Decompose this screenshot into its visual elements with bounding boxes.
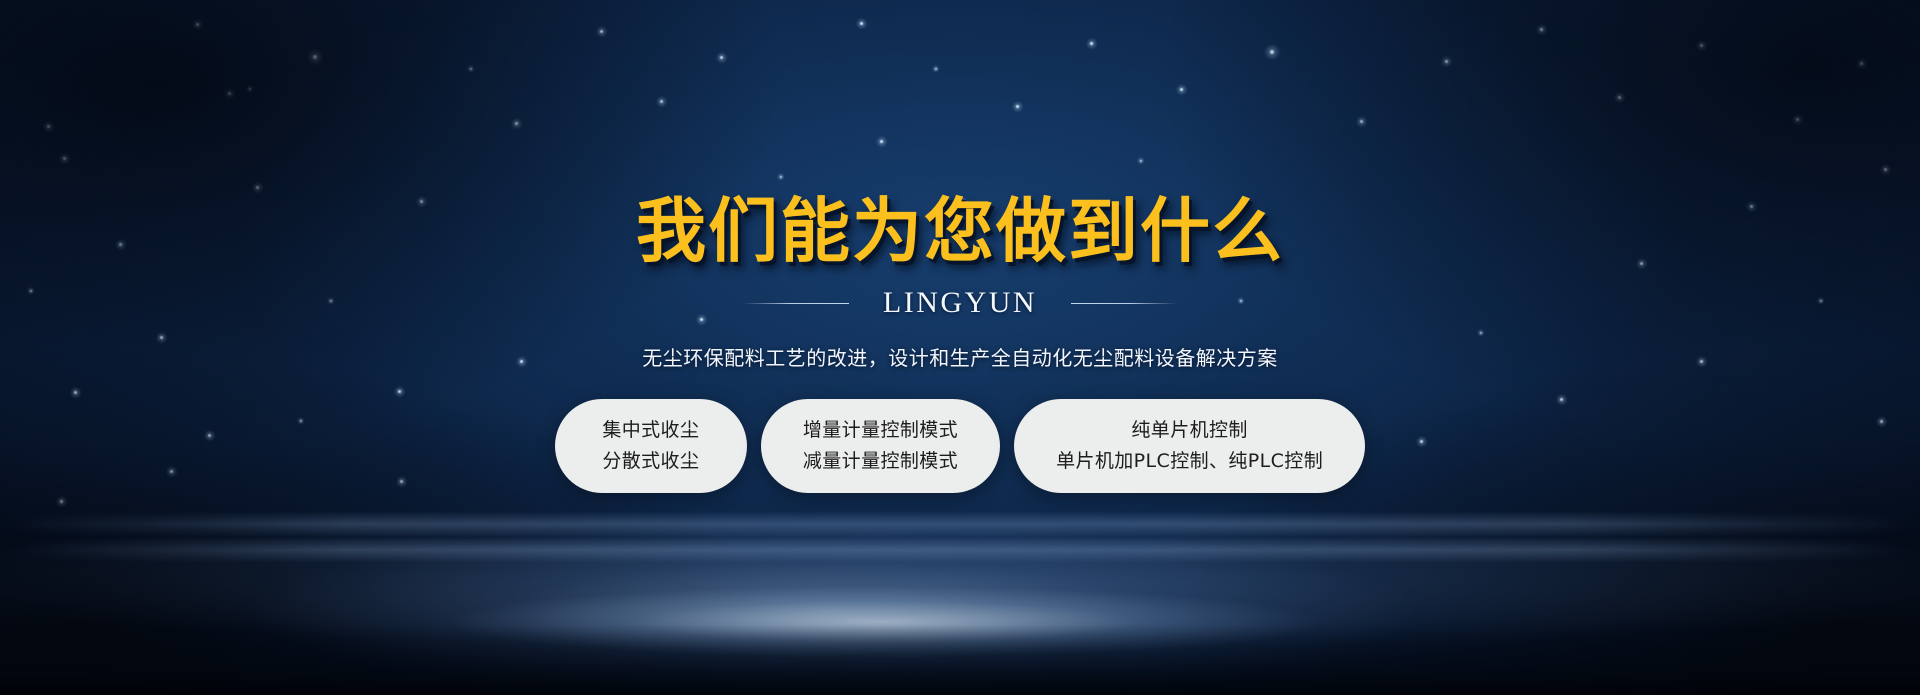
divider-left [743, 303, 849, 304]
feature-card[interactable]: 增量计量控制模式 减量计量控制模式 [761, 399, 1000, 493]
feature-card-list: 集中式收尘 分散式收尘 增量计量控制模式 减量计量控制模式 纯单片机控制 单片机… [555, 399, 1365, 493]
hero-banner: 我们能为您做到什么 LINGYUN 无尘环保配料工艺的改进，设计和生产全自动化无… [0, 0, 1920, 695]
banner-description: 无尘环保配料工艺的改进，设计和生产全自动化无尘配料设备解决方案 [642, 342, 1278, 371]
page-title: 我们能为您做到什么 [636, 196, 1284, 266]
feature-card-line: 单片机加PLC控制、纯PLC控制 [1056, 450, 1323, 474]
feature-card[interactable]: 纯单片机控制 单片机加PLC控制、纯PLC控制 [1014, 399, 1365, 493]
feature-card[interactable]: 集中式收尘 分散式收尘 [555, 399, 747, 493]
feature-card-line: 分散式收尘 [602, 450, 699, 474]
brand-row: LINGYUN [743, 286, 1177, 320]
feature-card-line: 纯单片机控制 [1131, 419, 1247, 443]
feature-card-line: 减量计量控制模式 [803, 450, 958, 474]
feature-card-line: 增量计量控制模式 [803, 419, 958, 443]
feature-card-line: 集中式收尘 [602, 419, 699, 443]
banner-content: 我们能为您做到什么 LINGYUN 无尘环保配料工艺的改进，设计和生产全自动化无… [0, 0, 1920, 695]
brand-name: LINGYUN [883, 286, 1037, 320]
divider-right [1071, 303, 1177, 304]
